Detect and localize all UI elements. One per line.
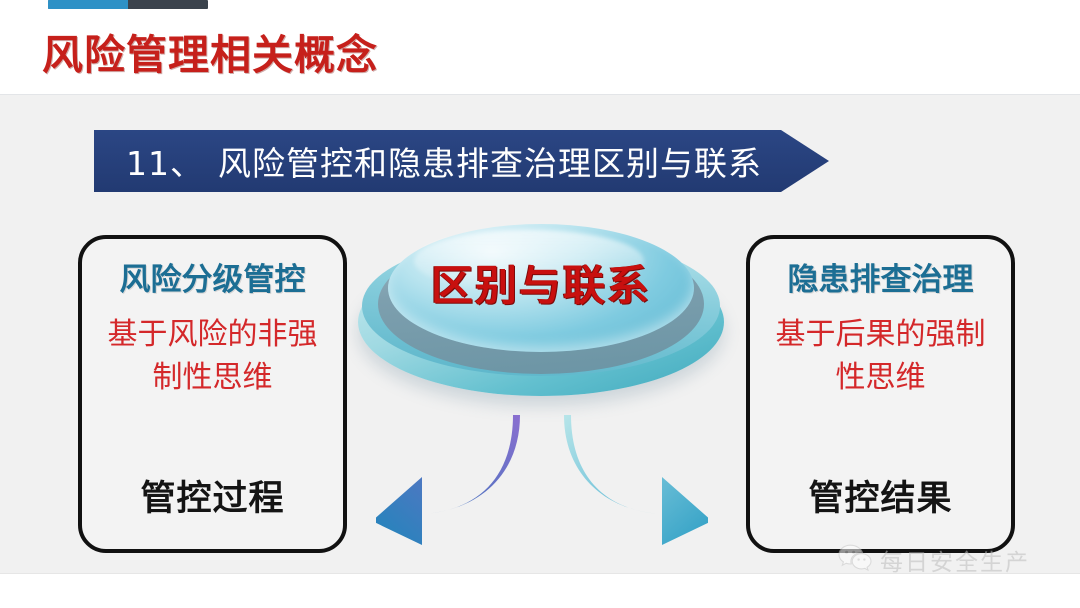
slide-progress-fill — [48, 0, 128, 9]
concept-result-right: 管控结果 — [750, 470, 1011, 521]
concept-detail-left: 基于风险的非强制性思维 — [94, 313, 332, 400]
concept-heading-left: 风险分级管控 — [120, 263, 306, 299]
watermark-text: 每日安全生产 — [880, 543, 1030, 577]
slide-progress-bar[interactable] — [48, 0, 208, 9]
arrow-down-right — [558, 415, 708, 545]
page-title: 风险管理相关概念 — [42, 21, 378, 81]
concept-detail-right: 基于后果的强制性思维 — [762, 313, 1000, 400]
wechat-icon — [838, 544, 872, 576]
concept-box-risk-grading[interactable]: 风险分级管控 基于风险的非强制性思维 管控过程 — [78, 235, 347, 553]
section-banner-text: 风险管控和隐患排查治理区别与联系 — [218, 137, 762, 185]
concept-box-hazard-investigation[interactable]: 隐患排查治理 基于后果的强制性思维 管控结果 — [746, 235, 1015, 553]
arrow-down-left — [376, 415, 526, 545]
concept-heading-right: 隐患排查治理 — [788, 263, 974, 299]
center-disc-label: 区别与联系 — [358, 252, 724, 313]
section-banner: 11、 风险管控和隐患排查治理区别与联系 — [94, 130, 829, 192]
concept-result-left: 管控过程 — [82, 470, 343, 521]
slide-canvas: 11、 风险管控和隐患排查治理区别与联系 风险分级管控 基于风险的非强制性思维 … — [0, 95, 1080, 573]
watermark: 每日安全生产 — [838, 543, 1030, 577]
center-disc[interactable]: 区别与联系 — [358, 222, 724, 422]
slide-header: 风险管理相关概念 — [0, 0, 1080, 95]
section-banner-index: 11、 — [126, 137, 204, 185]
slide-root: 风险管理相关概念 11、 风险管控和隐患排查治理区别与联系 风险分级管控 基于风… — [0, 0, 1080, 608]
slide-footer — [0, 573, 1080, 608]
